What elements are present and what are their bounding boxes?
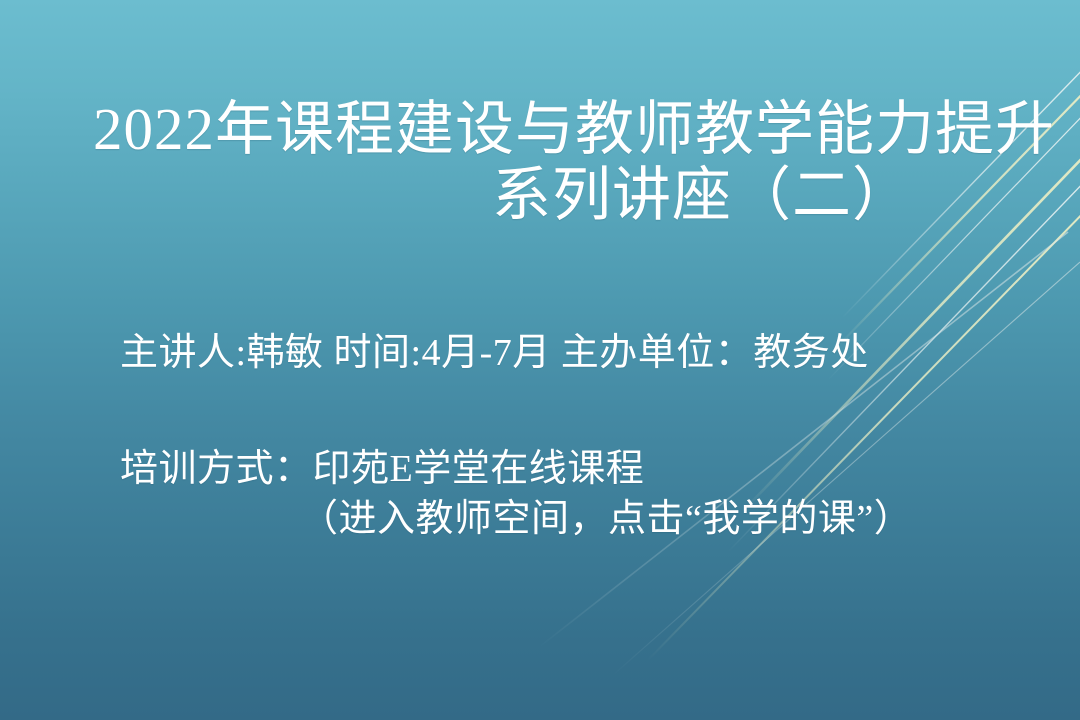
slide-body: 主讲人:韩敏 时间:4月-7月 主办单位：教务处 培训方式：印苑E学堂在线课程 … <box>0 330 1080 542</box>
page-title-line-2: 系列讲座（二） <box>80 162 1010 228</box>
presentation-slide: 2022年课程建设与教师教学能力提升 系列讲座（二） 主讲人:韩敏 时间:4月-… <box>0 0 1080 720</box>
access-instruction-line: （进入教师空间，点击“我学的课”） <box>0 496 1080 542</box>
page-title-line-1: 2022年课程建设与教师教学能力提升 <box>93 96 1010 162</box>
speaker-time-organizer-line: 主讲人:韩敏 时间:4月-7月 主办单位：教务处 <box>0 330 1080 376</box>
page-title: 2022年课程建设与教师教学能力提升 系列讲座（二） <box>80 96 1010 228</box>
training-method-line: 培训方式：印苑E学堂在线课程 <box>0 446 1080 492</box>
